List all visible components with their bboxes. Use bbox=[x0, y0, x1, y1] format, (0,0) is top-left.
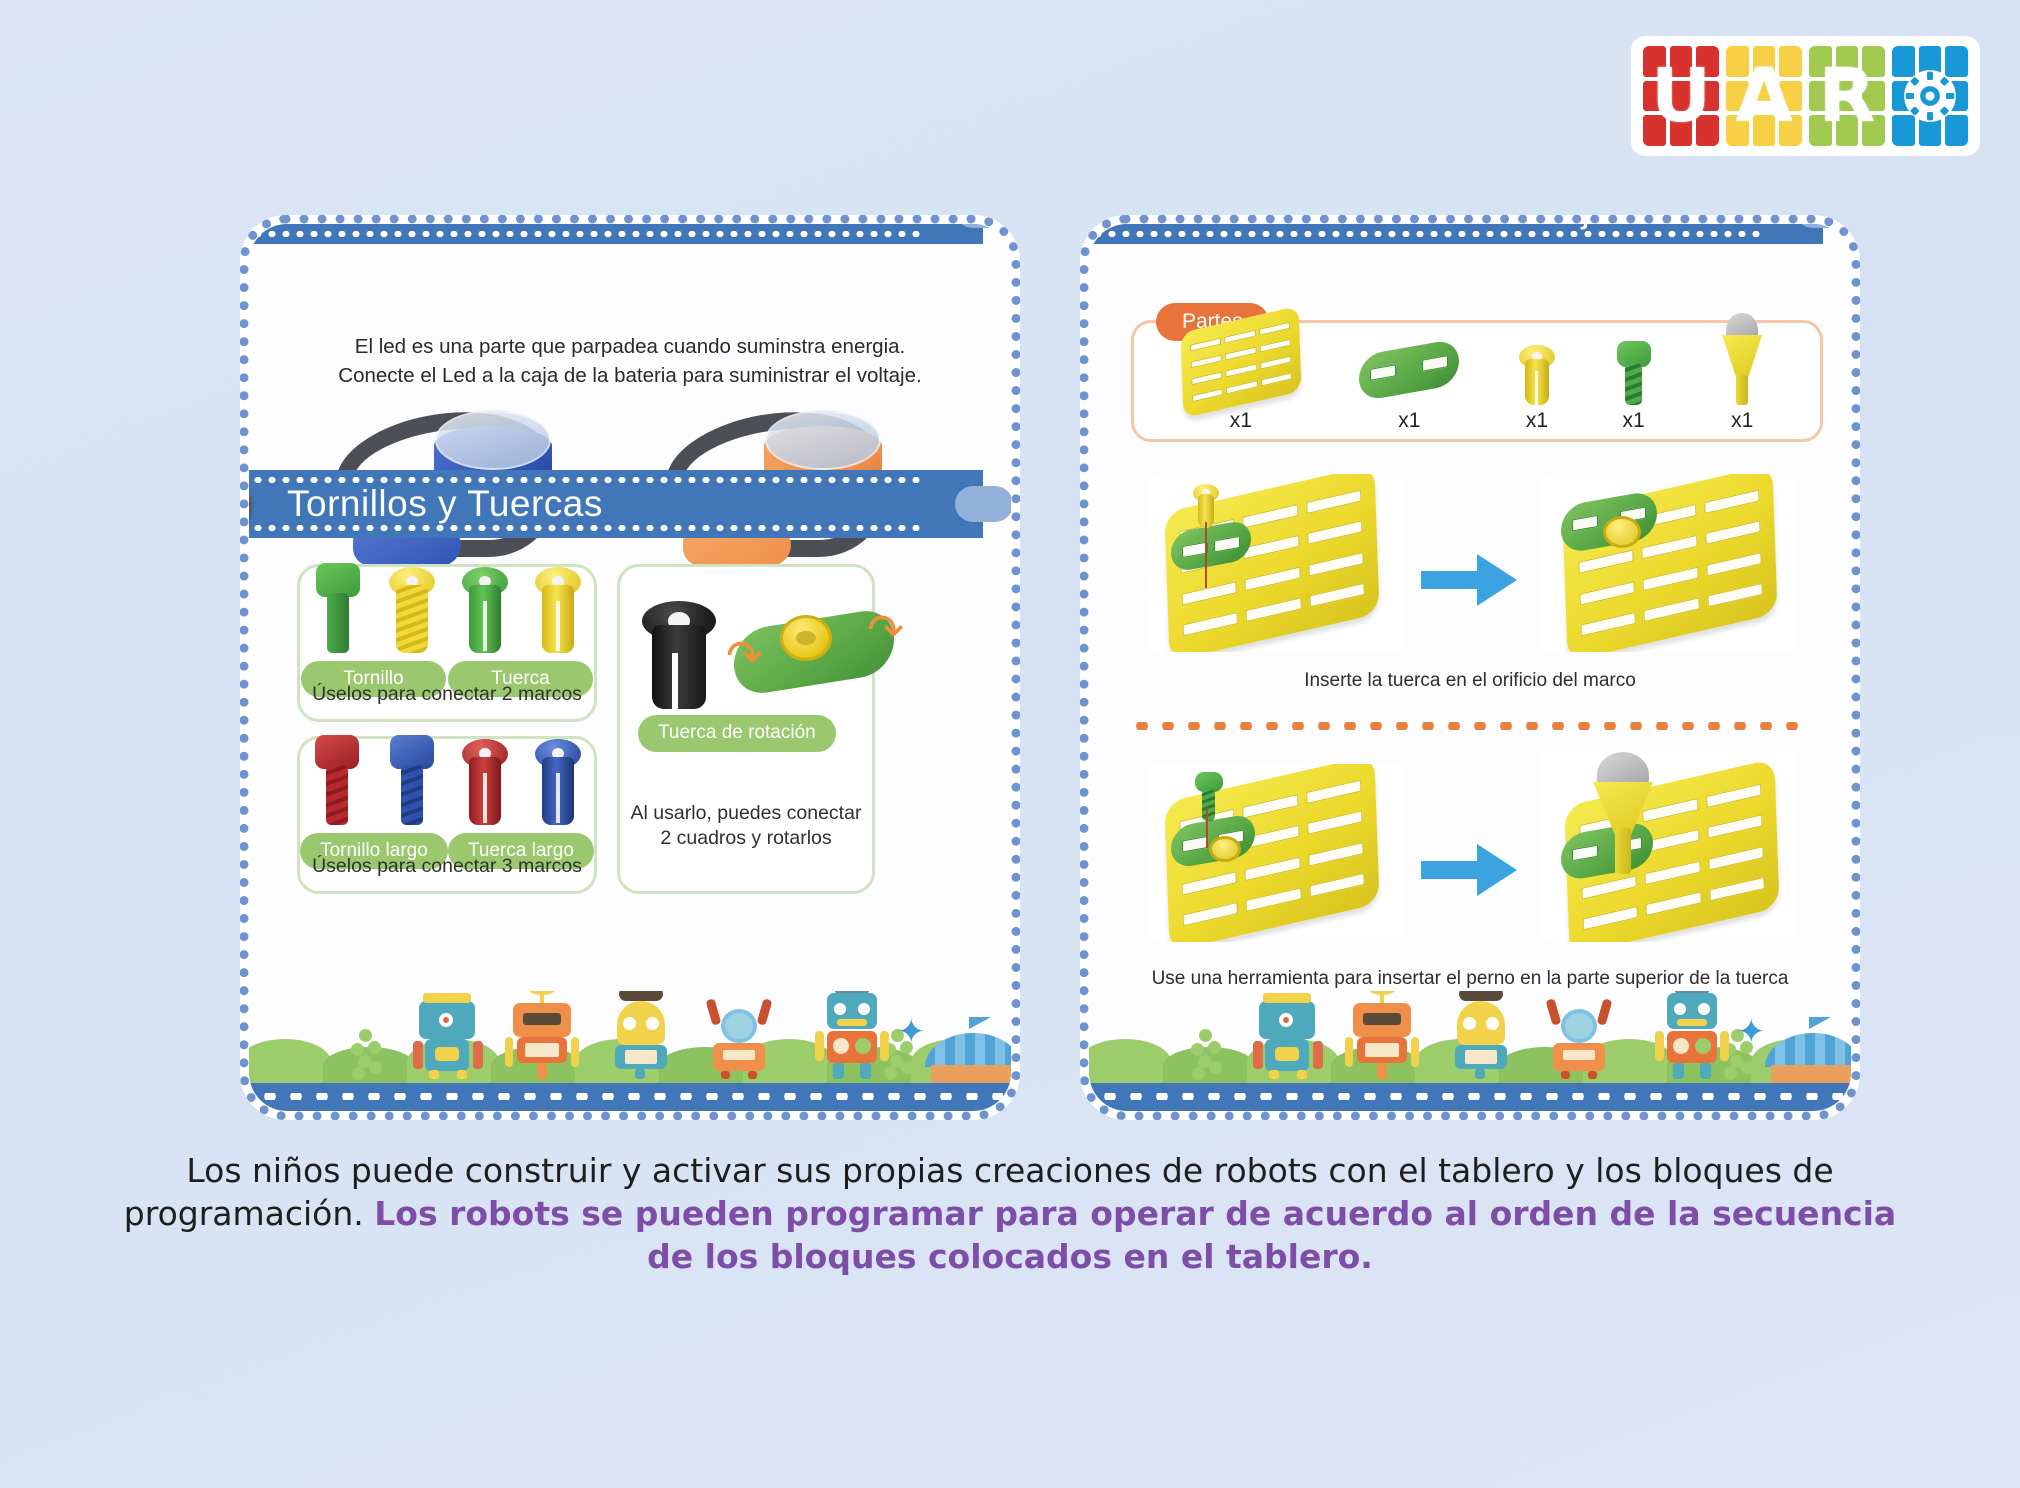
logo-letter-a: A bbox=[1726, 46, 1802, 146]
tent-icon bbox=[1765, 1033, 1851, 1085]
section-header-tornillos: Tornillos y Tuercas bbox=[249, 470, 983, 538]
nut-blue bbox=[535, 739, 581, 827]
arrow-right-icon bbox=[1421, 554, 1517, 606]
uaro-logo: U A R bbox=[1631, 36, 1980, 156]
qty-label: x1 bbox=[1622, 409, 1644, 433]
panel-note-line-2: 2 cuadros y rotarlos bbox=[620, 826, 872, 851]
button-icon bbox=[249, 224, 251, 239]
green-link bbox=[1359, 338, 1459, 402]
panel-tuerca-rotacion: ↷ ↷ Tuerca de rotación Al usarlo, puedes… bbox=[617, 564, 875, 894]
section-title: Práctica de montaje bbox=[1089, 224, 1823, 231]
parts-box: Partes x1 x1 bbox=[1131, 320, 1823, 442]
step2-caption: Use una herramienta para insertar el per… bbox=[1089, 968, 1851, 990]
robot-figure bbox=[499, 991, 585, 1079]
section-title: Tornillos y Tuercas bbox=[287, 483, 603, 525]
logo-letter-u: U bbox=[1643, 46, 1719, 146]
qty-label: x1 bbox=[1398, 409, 1420, 433]
sparkle-icon: ✦ bbox=[897, 1015, 926, 1049]
parts-item-yellow-nut: x1 bbox=[1519, 345, 1555, 433]
led-description: El led es una parte que parpadea cuando … bbox=[249, 332, 1011, 390]
step1-caption: Inserte la tuerca en el orificio del mar… bbox=[1089, 670, 1851, 692]
rotate-arrow-icon: ↷ bbox=[867, 605, 904, 656]
footer-decoration: ✦ bbox=[1089, 991, 1851, 1111]
logo-cell-r: R bbox=[1809, 46, 1885, 146]
screw-blue bbox=[388, 735, 436, 827]
robot-figure bbox=[1441, 991, 1521, 1079]
footer-decoration: ✦ bbox=[249, 991, 1011, 1111]
part-label-tuerca-rotacion: Tuerca de rotación bbox=[638, 715, 836, 752]
card-inner: ✦ Práctica de montaje Partes x1 bbox=[1089, 224, 1851, 1111]
parts-item-green-screw: x1 bbox=[1615, 341, 1653, 433]
parts-item-insert-tool: x1 bbox=[1712, 313, 1772, 433]
insert-tool bbox=[1587, 752, 1659, 872]
section-header-practica: Práctica de montaje bbox=[1089, 224, 1823, 244]
banner-nub bbox=[955, 486, 1011, 522]
footer-band bbox=[249, 1083, 1011, 1111]
caption-highlight-text: Los robots se pueden programar para oper… bbox=[374, 1194, 1896, 1276]
page-caption: Los niños puede construir y activar sus … bbox=[120, 1150, 1900, 1279]
yellow-nut bbox=[1209, 836, 1241, 862]
robot-figure bbox=[1649, 991, 1735, 1079]
step1-after-image bbox=[1541, 474, 1797, 652]
robot-figure bbox=[1541, 995, 1617, 1079]
qty-label: x1 bbox=[1230, 409, 1252, 433]
qty-label: x1 bbox=[1526, 409, 1548, 433]
banner-nub bbox=[955, 224, 1011, 228]
led-description-line-2: Conecte el Led a la caja de la bateria p… bbox=[249, 361, 1011, 390]
robot-figure bbox=[601, 991, 681, 1079]
insert-tool bbox=[1712, 313, 1772, 405]
rotation-plate-green: ↷ ↷ bbox=[734, 601, 894, 697]
robot-figure bbox=[701, 995, 777, 1079]
green-screw bbox=[1193, 772, 1223, 822]
alignment-line bbox=[1206, 808, 1208, 848]
rotate-arrow-icon: ↷ bbox=[726, 631, 763, 682]
alignment-line bbox=[1205, 522, 1207, 588]
sparkle-icon: ✦ bbox=[1737, 1015, 1766, 1049]
arrow-right-icon bbox=[1421, 844, 1517, 896]
rotation-nut-black bbox=[642, 601, 716, 711]
section-divider bbox=[1129, 722, 1811, 730]
qty-label: x1 bbox=[1731, 409, 1753, 433]
page-card-led: ✦ LED El led es una parte que parpadea c… bbox=[240, 215, 1020, 1120]
nut-red bbox=[462, 739, 508, 827]
button-icon bbox=[249, 475, 251, 533]
footer-band bbox=[1089, 1083, 1851, 1111]
yellow-nut bbox=[1519, 345, 1555, 405]
robot-figure bbox=[1339, 991, 1425, 1079]
panel-note-line-1: Al usarlo, puedes conectar bbox=[620, 801, 872, 826]
nut-yellow bbox=[535, 567, 581, 655]
nut-green bbox=[462, 567, 508, 655]
logo-cell-u: U bbox=[1643, 46, 1719, 146]
step1-before-image bbox=[1149, 474, 1405, 652]
led-dome bbox=[435, 410, 551, 470]
panel-note: Úselos para conectar 3 marcos bbox=[300, 854, 594, 879]
yellow-nut bbox=[1603, 516, 1641, 548]
section-title: LED bbox=[287, 224, 360, 231]
panel-tornillo-tuerca: Tornillo Tuerca Úselos para conectar 2 m… bbox=[297, 564, 597, 722]
parts-item-frame-plate: x1 bbox=[1182, 319, 1300, 433]
screw-green bbox=[314, 563, 362, 655]
frame-plate bbox=[1180, 306, 1301, 418]
step2-after-image bbox=[1541, 750, 1797, 942]
led-description-line-1: El led es una parte que parpadea cuando … bbox=[249, 332, 1011, 361]
screw-red bbox=[313, 735, 361, 827]
logo-cell-a: A bbox=[1726, 46, 1802, 146]
page-card-practica: ✦ Práctica de montaje Partes x1 bbox=[1080, 215, 1860, 1120]
gear-icon bbox=[1892, 46, 1968, 146]
logo-letter-r: R bbox=[1809, 46, 1885, 146]
logo-cell-o bbox=[1892, 46, 1968, 146]
panel-note: Al usarlo, puedes conectar 2 cuadros y r… bbox=[620, 801, 872, 852]
panel-tornillo-tuerca-largo: Tornillo largo Tuerca largo Úselos para … bbox=[297, 736, 597, 894]
yellow-nut bbox=[780, 615, 832, 661]
card-inner: ✦ LED El led es una parte que parpadea c… bbox=[249, 224, 1011, 1111]
section-header-led: LED bbox=[249, 224, 983, 244]
robot-figure bbox=[809, 991, 895, 1079]
bush-icon bbox=[349, 1029, 383, 1085]
green-screw bbox=[1615, 341, 1653, 405]
robot-figure bbox=[1249, 993, 1327, 1079]
bush-icon bbox=[1189, 1029, 1223, 1085]
nut-threaded-yellow bbox=[389, 567, 435, 655]
step2-before-image bbox=[1149, 764, 1405, 942]
led-dome bbox=[765, 410, 881, 470]
robot-figure bbox=[409, 993, 487, 1079]
tent-icon bbox=[925, 1033, 1011, 1085]
parts-item-green-link: x1 bbox=[1359, 347, 1459, 433]
panel-note: Úselos para conectar 2 marcos bbox=[300, 682, 594, 707]
